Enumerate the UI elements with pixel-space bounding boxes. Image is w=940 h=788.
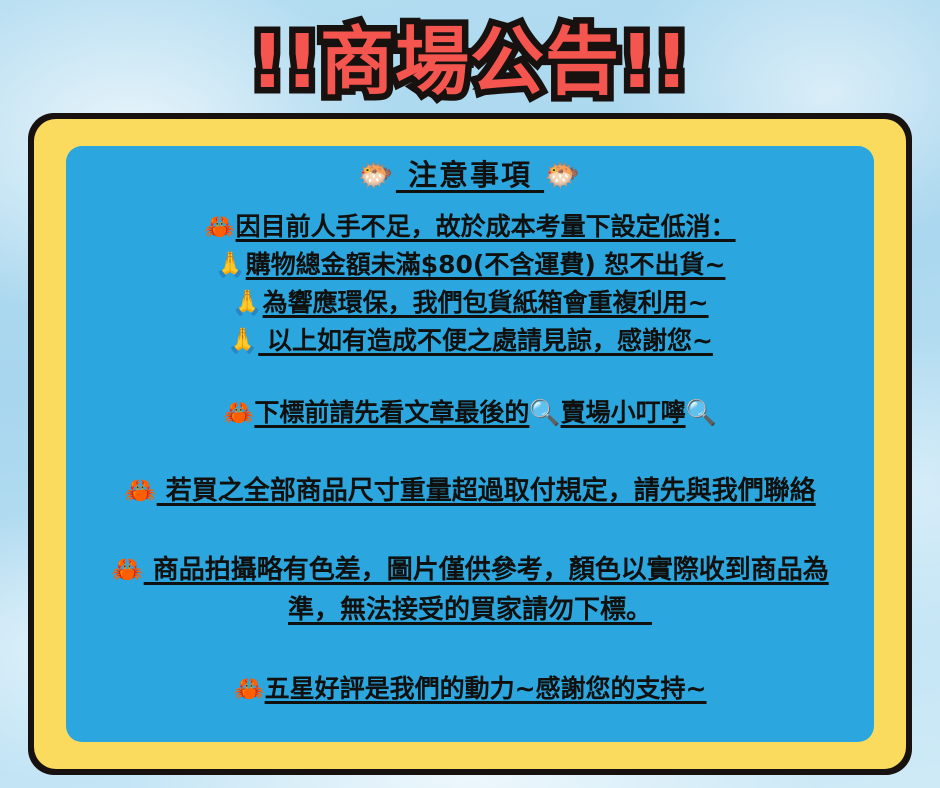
blowfish-icon-right: 🐡	[544, 154, 582, 196]
notice-line-text-after: 賣場小叮嚀	[561, 398, 686, 427]
notice-line-text: 商品拍攝略有色差，圖片僅供參考，顏色以實際收到商品為	[144, 555, 829, 585]
crab-icon: 🦀	[204, 208, 235, 246]
notice-line-no-ship-under-80: 🙏購物總金額未滿$80(不含運費) 恕不出貨~	[215, 246, 726, 284]
crab-icon: 🦀	[233, 670, 264, 708]
notice-line-recycled-boxes: 🙏為響應環保，我們包貨紙箱會重複利用~	[231, 284, 708, 322]
notice-heading-label: 注意事項	[408, 158, 532, 192]
frame-dash-teeth-top	[60, 119, 880, 134]
notice-line-five-star-thanks: 🦀五星好評是我們的動力~感謝您的支持~	[233, 670, 706, 708]
notice-line-read-shop-tips: 🦀下標前請先看文章最後的🔍賣場小叮嚀🔍	[223, 394, 716, 432]
announcement-poster: !!商場公告!! 🐡 注意事項 🐡 🦀因目前人手不足，故於成本考量下設定低消：	[0, 0, 940, 788]
blowfish-icon-left: 🐡	[358, 154, 396, 196]
notice-line-text: 五星好評是我們的動力~感謝您的支持~	[265, 674, 707, 703]
crab-icon: 🦀	[223, 394, 254, 432]
notice-line-apology: 🙏 以上如有造成不便之處請見諒，感謝您~	[227, 322, 713, 360]
notice-line-text: 若買之全部商品尺寸重量超過取付規定，請先與我們聯絡	[157, 476, 816, 506]
notice-line-text-before: 下標前請先看文章最後的	[254, 398, 529, 427]
folded-hands-icon: 🙏	[231, 284, 262, 322]
notice-line-text: 為響應環保，我們包貨紙箱會重複利用~	[263, 288, 709, 317]
magnifying-glass-icon-left: 🔍	[529, 394, 560, 432]
notice-heading: 🐡 注意事項 🐡	[358, 154, 582, 196]
frame-dash-teeth-bottom	[60, 754, 880, 769]
notice-line-text: 準，無法接受的買家請勿下標。	[288, 595, 652, 625]
page-title: !!商場公告!!	[251, 15, 690, 109]
frame-dash-teeth-left	[34, 145, 49, 743]
notice-content-card: 🐡 注意事項 🐡 🦀因目前人手不足，故於成本考量下設定低消： 🙏購物總金額未滿$…	[66, 146, 874, 742]
notice-line-minimum-order: 🦀因目前人手不足，故於成本考量下設定低消：	[204, 208, 735, 246]
folded-hands-icon: 🙏	[227, 322, 258, 360]
crab-icon: 🦀	[124, 472, 156, 510]
notice-content-inner: 🐡 注意事項 🐡 🦀因目前人手不足，故於成本考量下設定低消： 🙏購物總金額未滿$…	[66, 146, 874, 742]
poster-title-bar: !!商場公告!!	[0, 14, 940, 110]
crab-icon: 🦀	[111, 550, 143, 590]
notice-line-text: 以上如有造成不便之處請見諒，感謝您~	[258, 326, 713, 355]
notice-line-text: 因目前人手不足，故於成本考量下設定低消：	[236, 212, 736, 241]
notice-line-color-difference-1: 🦀 商品拍攝略有色差，圖片僅供參考，顏色以實際收到商品為	[111, 550, 828, 590]
frame-dash-teeth-right	[891, 145, 906, 743]
notice-line-oversize-contact-us: 🦀 若買之全部商品尺寸重量超過取付規定，請先與我們聯絡	[124, 472, 815, 510]
folded-hands-icon: 🙏	[215, 246, 246, 284]
magnifying-glass-icon-right: 🔍	[686, 394, 717, 432]
notice-line-color-difference-2: 準，無法接受的買家請勿下標。	[288, 590, 652, 630]
notice-line-text: 購物總金額未滿$80(不含運費) 恕不出貨~	[246, 250, 726, 279]
